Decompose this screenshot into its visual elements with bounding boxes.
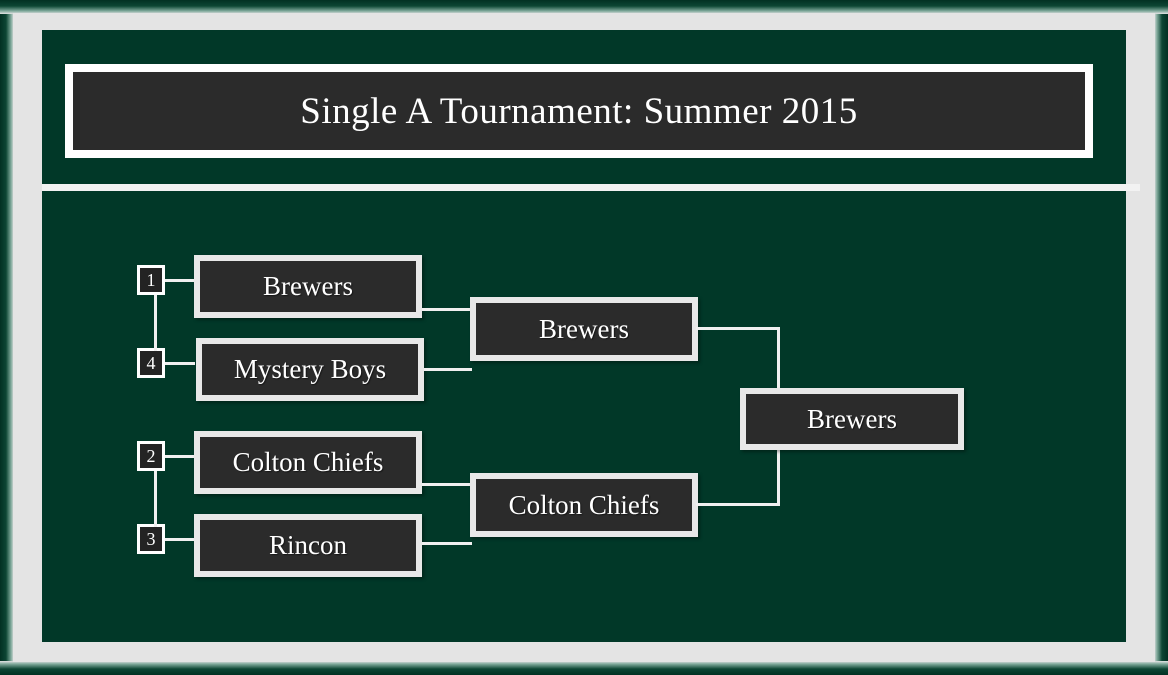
seed-link-2-3	[154, 471, 157, 527]
seed-badge-4: 4	[137, 348, 165, 378]
seed-stub-1	[165, 279, 195, 282]
seed-badge-1: 1	[137, 265, 165, 295]
bracket-team-label: Mystery Boys	[234, 354, 386, 385]
slide-canvas: Single A Tournament: Summer 2015 1 4 2 3	[42, 30, 1126, 642]
seed-badge-3-label: 3	[140, 527, 162, 551]
connector-r1-1-to-r2	[422, 308, 472, 311]
bracket-team-box-r1-3[interactable]: Colton Chiefs	[194, 431, 422, 494]
connector-r2-2-to-final	[696, 503, 780, 506]
bracket-team-box-r1-4[interactable]: Rincon	[194, 514, 422, 577]
seed-stub-4	[165, 362, 195, 365]
bracket-team-label: Colton Chiefs	[509, 490, 660, 521]
bracket-team-box-r1-2[interactable]: Mystery Boys	[196, 338, 424, 401]
bracket-team-fill: Brewers	[476, 303, 692, 355]
seed-badge-1-label: 1	[140, 268, 162, 292]
tournament-bracket-slide: Single A Tournament: Summer 2015 1 4 2 3	[0, 0, 1168, 675]
seed-badge-3: 3	[137, 524, 165, 554]
bracket-team-label: Colton Chiefs	[233, 447, 384, 478]
bracket-team-box-r2-1[interactable]: Brewers	[470, 297, 698, 361]
bracket-team-label: Brewers	[263, 271, 353, 302]
bracket-team-fill: Brewers	[746, 394, 958, 444]
connector-r1-3-to-r2	[422, 483, 472, 486]
connector-r2-1-to-final	[696, 327, 780, 330]
bracket-team-label: Brewers	[539, 314, 629, 345]
bracket-team-fill: Colton Chiefs	[476, 479, 692, 531]
seed-badge-4-label: 4	[140, 351, 162, 375]
seed-stub-2	[165, 455, 195, 458]
bracket-team-box-r1-1[interactable]: Brewers	[194, 255, 422, 318]
bracket-team-label: Rincon	[269, 530, 347, 561]
bracket-team-label: Brewers	[807, 404, 897, 435]
bracket-diagram: 1 4 2 3 Brewers	[42, 30, 1126, 642]
bracket-team-fill: Rincon	[200, 520, 416, 571]
connector-r1-2-to-r2	[424, 368, 472, 371]
seed-badge-2: 2	[137, 441, 165, 471]
bracket-team-fill: Mystery Boys	[202, 344, 418, 395]
bracket-team-fill: Colton Chiefs	[200, 437, 416, 488]
seed-link-1-4	[154, 295, 157, 351]
bracket-team-box-final[interactable]: Brewers	[740, 388, 964, 450]
connector-r1-4-to-r2	[422, 542, 472, 545]
bracket-team-box-r2-2[interactable]: Colton Chiefs	[470, 473, 698, 537]
seed-stub-3	[165, 538, 195, 541]
bracket-team-fill: Brewers	[200, 261, 416, 312]
seed-badge-2-label: 2	[140, 444, 162, 468]
